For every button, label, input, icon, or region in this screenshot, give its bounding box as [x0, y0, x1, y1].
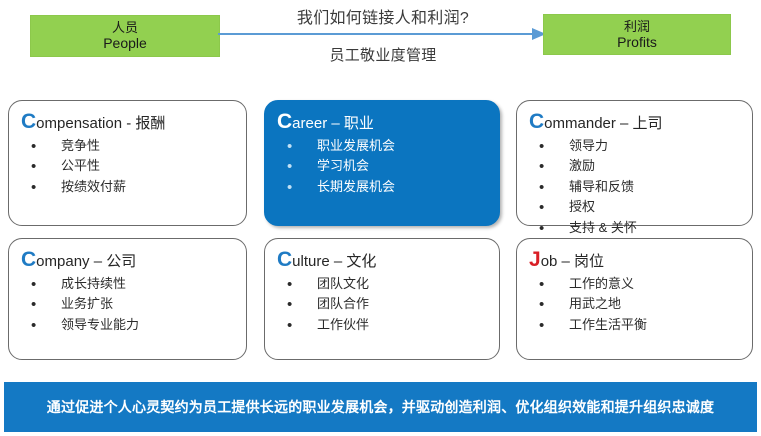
card-title-rest: ob – 岗位	[541, 253, 604, 270]
card-bullet-list: 团队文化 团队合作 工作伙伴	[275, 274, 489, 336]
people-box-en-label: People	[103, 35, 147, 52]
list-item: 领导专业能力	[27, 315, 236, 336]
list-item: 激励	[535, 156, 742, 177]
list-item: 业务扩张	[27, 294, 236, 315]
card-commander[interactable]: Commander – 上司 领导力 激励 辅导和反馈 授权 支持 & 关怀	[516, 100, 753, 226]
profits-box-en-label: Profits	[617, 34, 657, 51]
list-item: 用武之地	[535, 294, 742, 315]
card-bullet-list: 竞争性 公平性 按绩效付薪	[19, 136, 236, 198]
list-item: 长期发展机会	[283, 177, 489, 198]
list-item: 学习机会	[283, 156, 489, 177]
card-title: Culture – 文化	[277, 249, 489, 271]
card-bullet-list: 领导力 激励 辅导和反馈 授权 支持 & 关怀	[527, 136, 742, 239]
list-item: 竞争性	[27, 136, 236, 157]
list-item: 领导力	[535, 136, 742, 157]
card-company[interactable]: Company – 公司 成长持续性 业务扩张 领导专业能力	[8, 238, 247, 360]
card-initial-letter: C	[529, 110, 544, 133]
card-initial-letter: C	[21, 248, 36, 271]
list-item: 按绩效付薪	[27, 177, 236, 198]
card-initial-letter: J	[529, 248, 541, 271]
card-bullet-list: 成长持续性 业务扩张 领导专业能力	[19, 274, 236, 336]
card-title: Commander – 上司	[529, 111, 742, 133]
list-item: 工作生活平衡	[535, 315, 742, 336]
headline-question: 我们如何链接人和利润?	[228, 4, 538, 28]
card-title: Company – 公司	[21, 249, 236, 271]
card-bullet-list: 职业发展机会 学习机会 长期发展机会	[275, 136, 489, 198]
list-item: 公平性	[27, 156, 236, 177]
card-title: Compensation - 报酬	[21, 111, 236, 133]
profits-box: 利润 Profits	[543, 14, 731, 55]
people-box-cn-label: 人员	[112, 20, 138, 35]
list-item: 成长持续性	[27, 274, 236, 295]
list-item: 职业发展机会	[283, 136, 489, 157]
headline-subtitle: 员工敬业度管理	[228, 44, 538, 65]
footer-banner: 通过促进个人心灵契约为员工提供长远的职业发展机会，并驱动创造利润、优化组织效能和…	[4, 382, 757, 432]
card-initial-letter: C	[21, 110, 36, 133]
card-job[interactable]: Job – 岗位 工作的意义 用武之地 工作生活平衡	[516, 238, 753, 360]
card-title-rest: ompany – 公司	[36, 253, 136, 270]
card-title-rest: ulture – 文化	[292, 253, 376, 270]
card-title: Job – 岗位	[529, 249, 742, 271]
card-initial-letter: C	[277, 110, 292, 133]
list-item: 工作的意义	[535, 274, 742, 295]
people-box: 人员 People	[30, 15, 220, 57]
slide-canvas: 人员 People 我们如何链接人和利润? 员工敬业度管理 利润 Profits…	[0, 0, 761, 436]
connector-arrow-icon	[218, 26, 548, 42]
card-bullet-list: 工作的意义 用武之地 工作生活平衡	[527, 274, 742, 336]
list-item: 授权	[535, 197, 742, 218]
list-item: 工作伙伴	[283, 315, 489, 336]
list-item: 团队文化	[283, 274, 489, 295]
card-initial-letter: C	[277, 248, 292, 271]
card-career[interactable]: Career – 职业 职业发展机会 学习机会 长期发展机会	[264, 100, 500, 226]
footer-banner-text: 通过促进个人心灵契约为员工提供长远的职业发展机会，并驱动创造利润、优化组织效能和…	[47, 397, 714, 417]
card-culture[interactable]: Culture – 文化 团队文化 团队合作 工作伙伴	[264, 238, 500, 360]
list-item: 支持 & 关怀	[535, 218, 742, 239]
card-title-rest: ompensation - 报酬	[36, 115, 165, 132]
profits-box-cn-label: 利润	[624, 19, 650, 34]
list-item: 辅导和反馈	[535, 177, 742, 198]
card-title: Career – 职业	[277, 111, 489, 133]
card-title-rest: ommander – 上司	[544, 115, 662, 132]
list-item: 团队合作	[283, 294, 489, 315]
card-title-rest: areer – 职业	[292, 115, 374, 132]
card-compensation[interactable]: Compensation - 报酬 竞争性 公平性 按绩效付薪	[8, 100, 247, 226]
